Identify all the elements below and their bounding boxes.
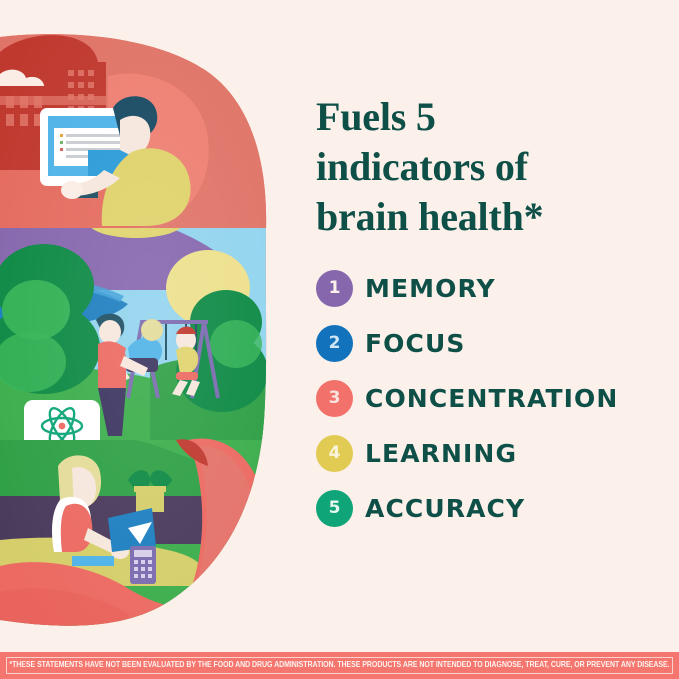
indicator-badge-4: 4 xyxy=(316,435,353,472)
indicator-label-learning: LEARNING xyxy=(365,441,517,466)
indicator-label-concentration: CONCENTRATION xyxy=(365,386,618,411)
indicator-badge-2: 2 xyxy=(316,325,353,362)
indicator-badge-1: 1 xyxy=(316,270,353,307)
brain-silhouette-group xyxy=(0,0,300,640)
page-title: Fuels 5 indicators of brain health* xyxy=(316,92,656,242)
list-item: 5 ACCURACY xyxy=(316,490,656,527)
list-item: 1 MEMORY xyxy=(316,270,656,307)
list-item: 4 LEARNING xyxy=(316,435,656,472)
list-item: 2 FOCUS xyxy=(316,325,656,362)
disclaimer-bar: *THESE STATEMENTS HAVE NOT BEEN EVALUATE… xyxy=(0,652,679,679)
disclaimer-inner-border: *THESE STATEMENTS HAVE NOT BEEN EVALUATE… xyxy=(6,657,673,674)
indicator-label-focus: FOCUS xyxy=(365,331,465,356)
content-panel: Fuels 5 indicators of brain health* 1 ME… xyxy=(316,92,656,545)
indicator-badge-5: 5 xyxy=(316,490,353,527)
indicator-label-memory: MEMORY xyxy=(365,276,496,301)
infographic-canvas: Fuels 5 indicators of brain health* 1 ME… xyxy=(0,0,679,679)
indicator-label-accuracy: ACCURACY xyxy=(365,496,525,521)
grain-overlay xyxy=(0,0,300,640)
brain-illustration xyxy=(0,0,300,640)
indicator-badge-3: 3 xyxy=(316,380,353,417)
list-item: 3 CONCENTRATION xyxy=(316,380,656,417)
indicator-list: 1 MEMORY 2 FOCUS 3 CONCENTRATION 4 LEARN… xyxy=(316,270,656,527)
disclaimer-text: *THESE STATEMENTS HAVE NOT BEEN EVALUATE… xyxy=(9,661,669,669)
